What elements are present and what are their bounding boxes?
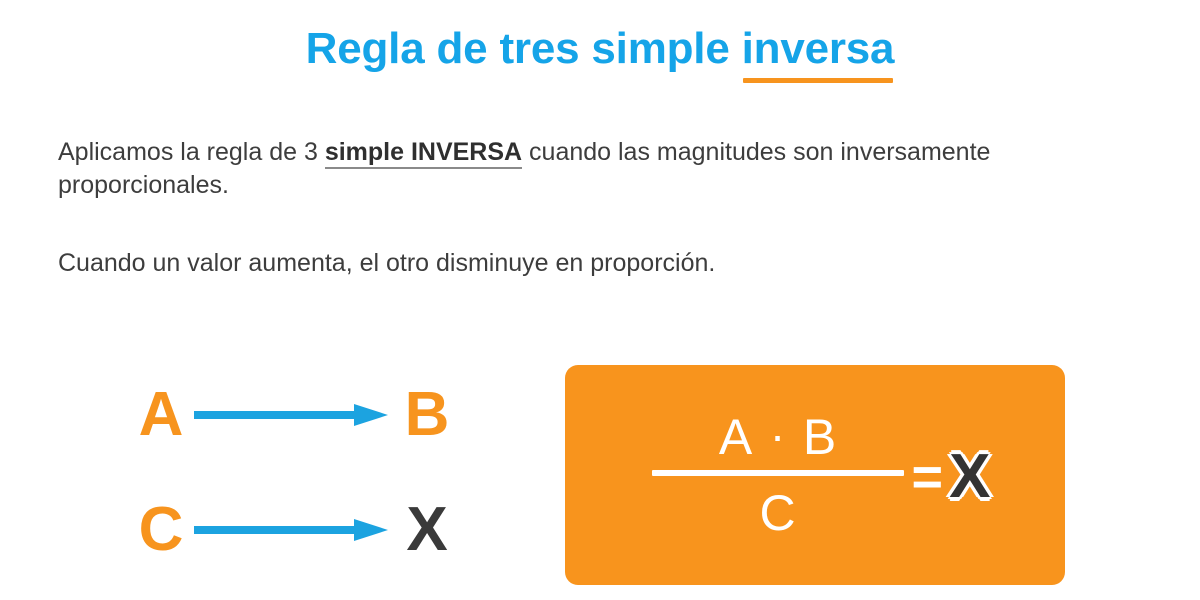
multiply-dot-icon: · <box>758 412 798 458</box>
formula-result-x: X <box>949 446 990 508</box>
intro-paragraph-before: Aplicamos la regla de 3 <box>58 138 325 166</box>
explanation-paragraph: Cuando un valor aumenta, el otro disminu… <box>58 247 1168 280</box>
slide-canvas: Regla de tres simple inversa Aplicamos l… <box>0 0 1200 600</box>
equals-sign: = <box>912 450 944 504</box>
formula-numerator: A · B <box>714 412 842 470</box>
formula-denominator: C <box>759 476 795 538</box>
proportion-diagram: A B C X <box>130 365 490 585</box>
intro-paragraph-strong: simple INVERSA <box>325 138 522 169</box>
page-title-prefix: Regla de tres simple <box>306 24 742 73</box>
diagram-label-a: A <box>130 384 192 446</box>
formula-box: A · B C = X <box>565 365 1065 585</box>
page-title: Regla de tres simple inversa <box>0 24 1200 74</box>
intro-paragraph: Aplicamos la regla de 3 simple INVERSA c… <box>58 136 1168 202</box>
diagram-label-x: X <box>396 499 458 561</box>
diagram-row-1: A B <box>130 375 490 455</box>
diagram-row-2: C X <box>130 490 490 570</box>
right-arrow-icon <box>194 400 394 430</box>
formula-fraction: A · B C <box>652 412 904 538</box>
page-title-emphasis: inversa <box>742 24 895 74</box>
diagram-label-c: C <box>130 499 192 561</box>
formula-numerator-a: A <box>714 412 758 462</box>
diagram-label-b: B <box>396 384 458 446</box>
formula-numerator-b: B <box>798 412 842 462</box>
formula-content: A · B C = X <box>565 365 1065 585</box>
right-arrow-icon <box>194 515 394 545</box>
